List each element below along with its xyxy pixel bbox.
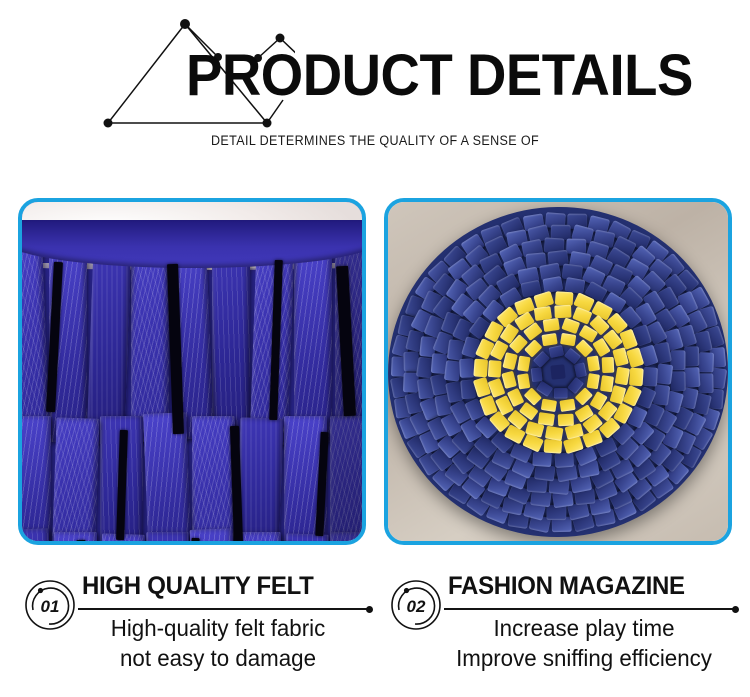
felt-tab [629,367,644,386]
felt-tab [684,367,700,388]
product-image-card-2[interactable] [384,198,732,545]
felt-tab [531,367,543,382]
feature-description-line-1: Increase play time [429,613,739,643]
felt-tab [545,425,564,440]
felt-tab [541,398,557,411]
felt-tab [532,451,552,467]
felt-tab [643,367,658,386]
felt-tab [602,356,615,372]
product-details-page: PRODUCT DETAILS DETAIL DETERMINES THE QU… [0,0,750,697]
felt-tab [517,355,530,371]
feature-heading-2: FASHION MAGAZINE [448,573,728,600]
felt-tab [600,375,614,392]
page-header: PRODUCT DETAILS DETAIL DETERMINES THE QU… [0,0,750,170]
felt-tab [554,452,574,468]
felt-tab [459,358,474,377]
felt-tab [517,373,530,389]
felt-tab [543,317,560,331]
felt-tab [698,352,714,372]
felt-tab [698,373,713,393]
product-image-card-1[interactable] [18,198,366,545]
feature-divider-1 [78,608,370,610]
felt-tab [541,332,557,345]
feature-description-2: Increase play time Improve sniffing effi… [429,613,739,673]
felt-tab [549,345,564,358]
feature-description-1: High-quality felt fabric not easy to dam… [63,613,373,673]
page-subtitle: DETAIL DETERMINES THE QUALITY OF A SENSE… [26,133,724,148]
feature-description-line-1: High-quality felt fabric [63,613,373,643]
felt-tab [488,360,502,377]
felt-tab [554,388,568,398]
felt-tab [558,413,574,426]
felt-tab [542,276,563,293]
felt-tab [559,398,575,411]
badge-number-text-02: 02 [407,597,426,616]
felt-tab [560,332,576,345]
page-title: PRODUCT DETAILS [186,47,693,105]
felt-tab [555,291,574,306]
felt-tab [501,370,517,388]
felt-tab [587,355,600,371]
felt-tab [587,373,600,389]
felt-tab [502,352,517,370]
felt-tab [670,371,686,391]
feature-block-2: 02 FASHION MAGAZINE Increase play time I… [384,565,744,690]
felt-tab [473,358,488,377]
feature-heading-1: HIGH QUALITY FELT [82,573,362,600]
felt-tab [612,347,628,366]
felt-tab [615,366,630,385]
feature-description-line-2: not easy to damage [63,643,373,673]
feature-block-1: 01 HIGH QUALITY FELT High-quality felt f… [18,565,378,690]
felt-tab [656,363,673,384]
blue-felt-fringe-image [22,202,362,541]
felt-tab [574,362,587,377]
feature-divider-2 [444,608,736,610]
badge-number-text-01: 01 [41,597,60,616]
felt-tab [554,304,571,317]
feature-description-line-2: Improve sniffing efficiency [429,643,739,673]
snuffle-mat-image [388,202,728,541]
felt-tab [684,346,699,366]
felt-tab [538,412,555,426]
